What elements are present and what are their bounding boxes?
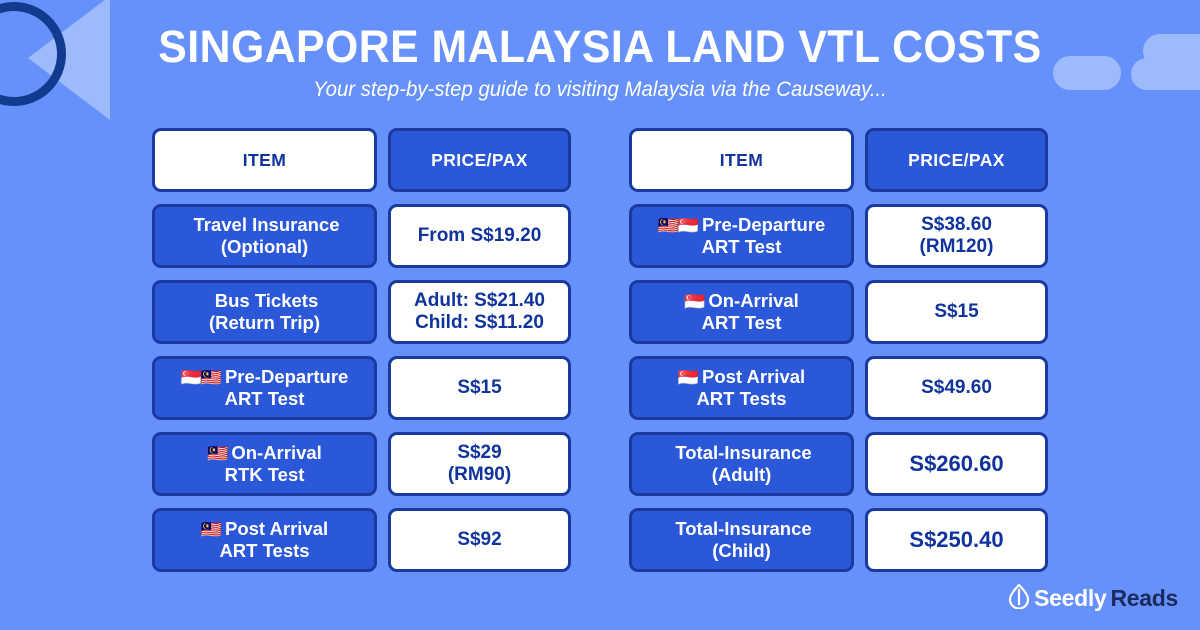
price-cell: S$38.60(RM120) bbox=[865, 204, 1048, 268]
price-cell: S$15 bbox=[865, 280, 1048, 344]
item-cell: 🇲🇾Post ArrivalART Tests bbox=[152, 508, 377, 572]
column-header-price: PRICE/PAX bbox=[865, 128, 1048, 192]
table-header-row: ITEM PRICE/PAX bbox=[629, 128, 1048, 192]
item-label: Total-Insurance(Adult) bbox=[675, 442, 811, 485]
item-label: Post ArrivalART Tests bbox=[696, 366, 805, 409]
flag-icon: 🇸🇬🇲🇾 bbox=[181, 368, 221, 387]
table-row: 🇲🇾🇸🇬Pre-DepartureART Test S$38.60(RM120) bbox=[629, 204, 1048, 268]
item-label: Travel Insurance(Optional) bbox=[193, 214, 339, 257]
flag-icon: 🇲🇾 bbox=[201, 520, 221, 539]
table-row: Total-Insurance(Child) S$250.40 bbox=[629, 508, 1048, 572]
price-cell: From S$19.20 bbox=[388, 204, 571, 268]
seedly-leaf-icon bbox=[1008, 583, 1030, 614]
item-cell: Travel Insurance(Optional) bbox=[152, 204, 377, 268]
item-cell: Bus Tickets(Return Trip) bbox=[152, 280, 377, 344]
table-row: 🇸🇬Post ArrivalART Tests S$49.60 bbox=[629, 356, 1048, 420]
table-row: 🇲🇾On-ArrivalRTK Test S$29(RM90) bbox=[152, 432, 571, 496]
item-cell: 🇸🇬🇲🇾Pre-DepartureART Test bbox=[152, 356, 377, 420]
item-cell: 🇲🇾On-ArrivalRTK Test bbox=[152, 432, 377, 496]
column-header-item: ITEM bbox=[152, 128, 377, 192]
flag-icon: 🇲🇾🇸🇬 bbox=[658, 216, 698, 235]
price-cell: S$15 bbox=[388, 356, 571, 420]
infographic-poster: SINGAPORE MALAYSIA LAND VTL COSTS Your s… bbox=[0, 0, 1200, 630]
flag-icon: 🇲🇾 bbox=[207, 444, 227, 463]
item-label: Total-Insurance(Child) bbox=[675, 518, 811, 561]
page-title: SINGAPORE MALAYSIA LAND VTL COSTS bbox=[30, 22, 1170, 72]
column-header-item: ITEM bbox=[629, 128, 854, 192]
right-cost-table: ITEM PRICE/PAX 🇲🇾🇸🇬Pre-DepartureART Test… bbox=[629, 128, 1048, 572]
poster-header: SINGAPORE MALAYSIA LAND VTL COSTS Your s… bbox=[0, 22, 1200, 102]
price-cell: S$260.60 bbox=[865, 432, 1048, 496]
item-cell: Total-Insurance(Adult) bbox=[629, 432, 854, 496]
item-label: On-ArrivalRTK Test bbox=[225, 442, 322, 485]
cost-tables-container: ITEM PRICE/PAX Travel Insurance(Optional… bbox=[152, 128, 1048, 572]
table-row: Travel Insurance(Optional) From S$19.20 bbox=[152, 204, 571, 268]
table-row: 🇸🇬🇲🇾Pre-DepartureART Test S$15 bbox=[152, 356, 571, 420]
item-label: On-ArrivalART Test bbox=[702, 290, 799, 333]
column-header-price: PRICE/PAX bbox=[388, 128, 571, 192]
price-cell: Adult: S$21.40Child: S$11.20 bbox=[388, 280, 571, 344]
item-cell: Total-Insurance(Child) bbox=[629, 508, 854, 572]
table-row: 🇲🇾Post ArrivalART Tests S$92 bbox=[152, 508, 571, 572]
price-cell: S$250.40 bbox=[865, 508, 1048, 572]
page-subtitle: Your step-by-step guide to visiting Mala… bbox=[18, 78, 1182, 102]
logo-text-reads: Reads bbox=[1110, 585, 1178, 612]
item-label: Post ArrivalART Tests bbox=[219, 518, 328, 561]
price-cell: S$92 bbox=[388, 508, 571, 572]
item-cell: 🇸🇬Post ArrivalART Tests bbox=[629, 356, 854, 420]
logo-text-seedly: Seedly bbox=[1034, 585, 1106, 612]
item-label: Pre-DepartureART Test bbox=[225, 366, 349, 409]
item-cell: 🇸🇬On-ArrivalART Test bbox=[629, 280, 854, 344]
table-header-row: ITEM PRICE/PAX bbox=[152, 128, 571, 192]
left-cost-table: ITEM PRICE/PAX Travel Insurance(Optional… bbox=[152, 128, 571, 572]
item-cell: 🇲🇾🇸🇬Pre-DepartureART Test bbox=[629, 204, 854, 268]
flag-icon: 🇸🇬 bbox=[678, 368, 698, 387]
table-row: 🇸🇬On-ArrivalART Test S$15 bbox=[629, 280, 1048, 344]
item-label: Pre-DepartureART Test bbox=[702, 214, 826, 257]
table-row: Total-Insurance(Adult) S$260.60 bbox=[629, 432, 1048, 496]
flag-icon: 🇸🇬 bbox=[684, 292, 704, 311]
price-cell: S$29(RM90) bbox=[388, 432, 571, 496]
price-cell: S$49.60 bbox=[865, 356, 1048, 420]
item-label: Bus Tickets(Return Trip) bbox=[209, 290, 320, 333]
seedly-reads-logo: Seedly Reads bbox=[1008, 583, 1178, 614]
table-row: Bus Tickets(Return Trip) Adult: S$21.40C… bbox=[152, 280, 571, 344]
